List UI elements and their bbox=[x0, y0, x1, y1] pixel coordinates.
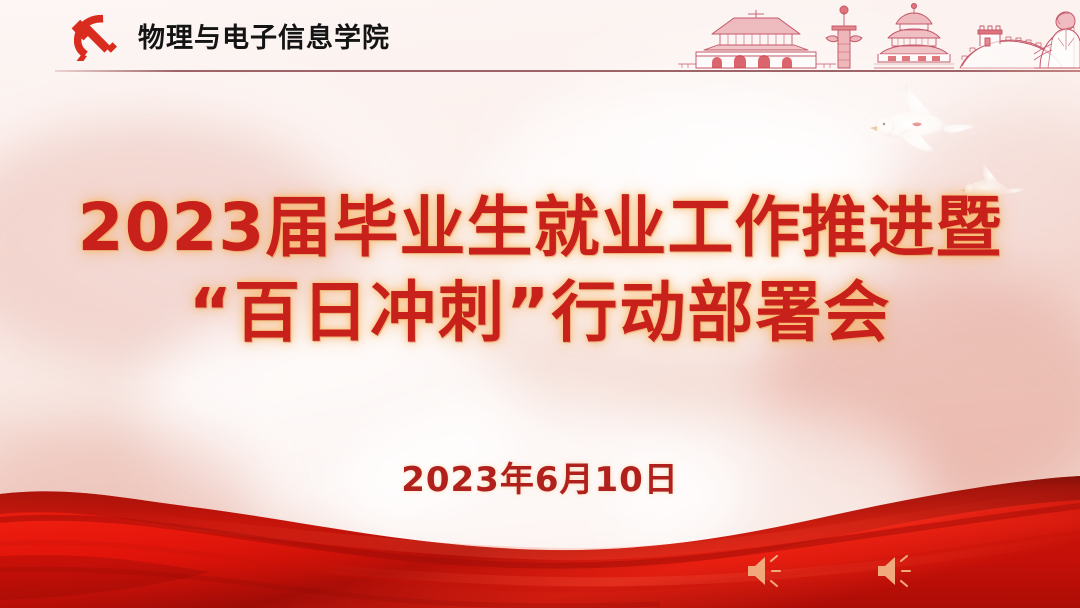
conference-backdrop-poster: 物理与电子信息学院 bbox=[0, 0, 1080, 608]
title-line-2: “百日冲刺”行动部署会 bbox=[0, 270, 1080, 356]
speaker-sound-icon[interactable] bbox=[875, 552, 915, 590]
poster-header: 物理与电子信息学院 bbox=[0, 0, 1080, 80]
college-name-title: 物理与电子信息学院 bbox=[138, 18, 390, 58]
speaker-sound-icon[interactable] bbox=[745, 552, 785, 590]
flying-dove-icon bbox=[860, 76, 980, 162]
red-silk-ribbon-wave bbox=[0, 448, 1080, 608]
title-line-1: 2023届毕业生就业工作推进暨 bbox=[0, 186, 1080, 270]
beijing-landmarks-line-art-icon bbox=[660, 0, 1080, 72]
party-hammer-sickle-emblem-icon bbox=[62, 11, 124, 63]
main-title-block: 2023届毕业生就业工作推进暨 “百日冲刺”行动部署会 bbox=[0, 186, 1080, 356]
